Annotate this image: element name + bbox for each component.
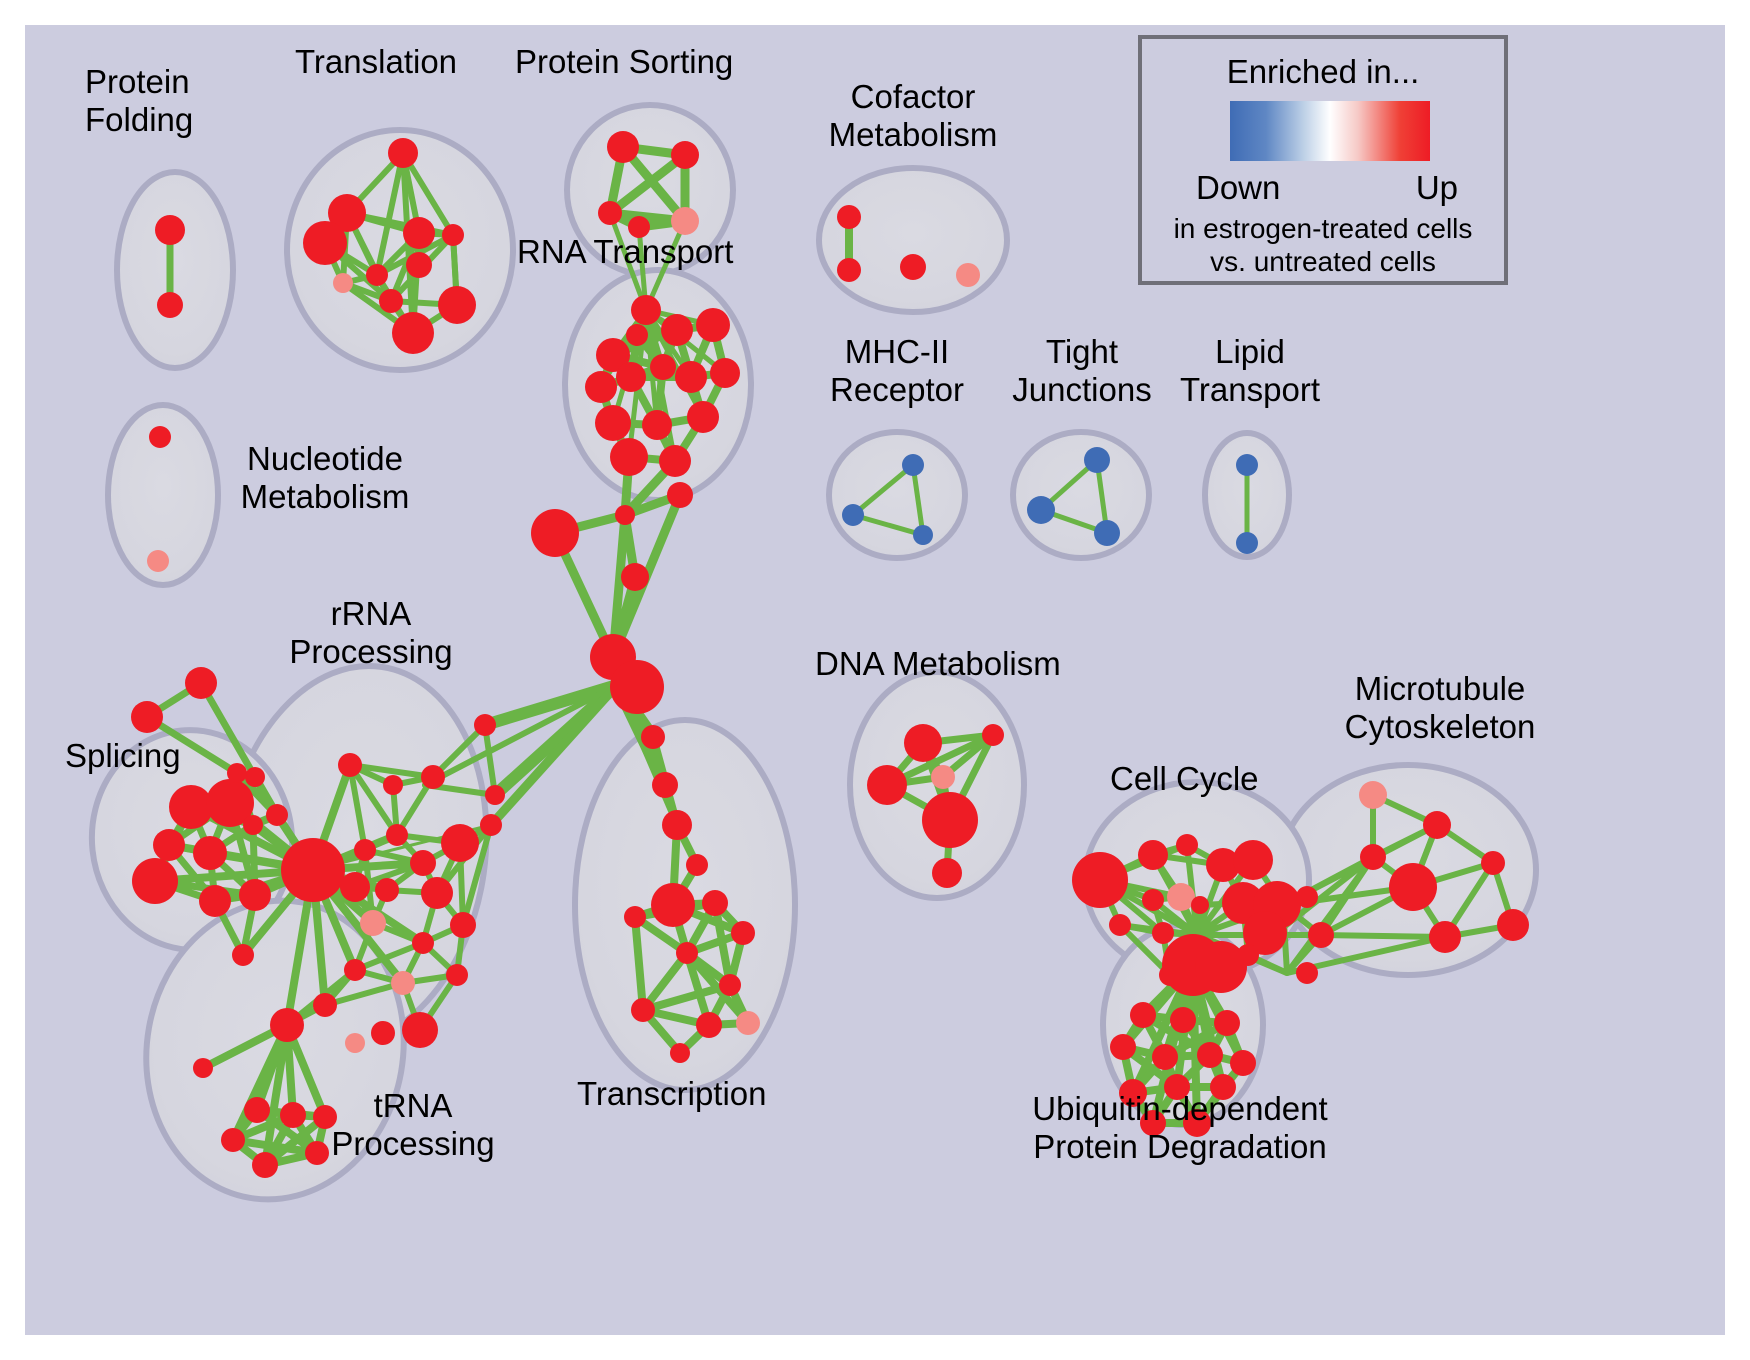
- node: [1359, 781, 1387, 809]
- node: [410, 850, 436, 876]
- node: [610, 660, 664, 714]
- cluster-label-translation: Translation: [295, 43, 457, 81]
- node: [313, 993, 337, 1017]
- cluster-label-mhc-ii-receptor: MHC-IIReceptor: [797, 333, 997, 409]
- node: [252, 1152, 278, 1178]
- node: [1389, 863, 1437, 911]
- node: [232, 944, 254, 966]
- node: [354, 839, 376, 861]
- hull-protein-folding: [117, 172, 233, 368]
- node: [837, 258, 861, 282]
- node: [155, 215, 185, 245]
- cluster-label-trna-processing: tRNAProcessing: [303, 1087, 523, 1163]
- legend-title: Enriched in...: [1142, 53, 1504, 91]
- node: [626, 324, 648, 346]
- node: [904, 724, 942, 762]
- cluster-label-protein-folding: ProteinFolding: [85, 63, 193, 139]
- node: [266, 804, 288, 826]
- node: [610, 438, 648, 476]
- node: [1027, 496, 1055, 524]
- node: [585, 371, 617, 403]
- node: [1423, 811, 1451, 839]
- legend-subtitle-line1: in estrogen-treated cells: [1142, 213, 1504, 245]
- hull-tight-junctions: [1013, 432, 1149, 558]
- node: [687, 401, 719, 433]
- figure-root: ProteinFolding Translation Protein Sorti…: [0, 0, 1750, 1360]
- node: [379, 289, 403, 313]
- node: [338, 753, 362, 777]
- node: [450, 912, 476, 938]
- node: [686, 854, 708, 876]
- node: [1481, 851, 1505, 875]
- cluster-label-cell-cycle: Cell Cycle: [1110, 760, 1259, 798]
- node: [719, 974, 741, 996]
- node: [402, 1012, 438, 1048]
- cluster-label-cofactor-metabolism: CofactorMetabolism: [803, 78, 1023, 154]
- node: [902, 454, 924, 476]
- node: [652, 772, 678, 798]
- node: [333, 273, 353, 293]
- legend-color-gradient-bar: [1230, 101, 1430, 161]
- node: [1197, 1042, 1223, 1068]
- node: [982, 724, 1004, 746]
- node: [243, 815, 263, 835]
- node: [651, 883, 695, 927]
- legend-low-label: Down: [1196, 169, 1280, 207]
- node: [1152, 1044, 1178, 1070]
- node: [837, 205, 861, 229]
- node: [193, 1058, 213, 1078]
- node: [659, 445, 691, 477]
- node: [147, 550, 169, 572]
- node: [199, 885, 231, 917]
- node: [696, 308, 730, 342]
- legend-panel: Enriched in... Down Up in estrogen-treat…: [1138, 35, 1508, 285]
- cluster-label-splicing: Splicing: [65, 737, 181, 775]
- node: [661, 314, 693, 346]
- node: [193, 836, 227, 870]
- node: [388, 138, 418, 168]
- node: [227, 763, 247, 783]
- node: [474, 714, 496, 736]
- node: [1429, 921, 1461, 953]
- node: [676, 942, 698, 964]
- node: [1296, 886, 1318, 908]
- node: [595, 405, 631, 441]
- cluster-label-protein-sorting: Protein Sorting: [515, 43, 733, 81]
- node: [132, 858, 178, 904]
- cluster-label-nucleotide-metabolism: NucleotideMetabolism: [210, 440, 440, 516]
- node: [675, 361, 707, 393]
- node: [642, 410, 672, 440]
- node: [607, 131, 639, 163]
- node: [149, 426, 171, 448]
- node: [1084, 447, 1110, 473]
- node: [375, 878, 399, 902]
- cluster-label-tight-junctions: TightJunctions: [987, 333, 1177, 409]
- node: [1236, 532, 1258, 554]
- node: [671, 141, 699, 169]
- node: [641, 725, 665, 749]
- node: [531, 509, 579, 557]
- cluster-label-transcription: Transcription: [577, 1075, 767, 1113]
- node: [1296, 962, 1318, 984]
- node: [922, 792, 978, 848]
- node: [624, 906, 646, 928]
- node: [867, 765, 907, 805]
- node: [403, 217, 435, 249]
- node: [670, 1043, 690, 1063]
- node: [340, 872, 370, 902]
- node: [371, 1021, 395, 1045]
- node: [438, 286, 476, 324]
- cluster-label-rrna-processing: rRNAProcessing: [261, 595, 481, 671]
- node: [621, 563, 649, 591]
- node: [221, 1128, 245, 1152]
- node: [421, 877, 453, 909]
- node: [1142, 889, 1164, 911]
- node: [1110, 1034, 1136, 1060]
- node: [1195, 941, 1247, 993]
- node: [131, 701, 163, 733]
- node: [1109, 914, 1131, 936]
- node: [1497, 909, 1529, 941]
- cluster-label-ubiquitin-protein-degradation: Ubiquitin-dependentProtein Degradation: [980, 1090, 1380, 1166]
- node: [281, 838, 345, 902]
- node: [616, 362, 646, 392]
- hull-mhc: [829, 432, 965, 558]
- node: [406, 252, 432, 278]
- node: [710, 358, 740, 388]
- node: [1191, 896, 1209, 914]
- node: [1170, 1007, 1196, 1033]
- node: [598, 201, 622, 225]
- node: [270, 1008, 304, 1042]
- node: [1138, 840, 1168, 870]
- cluster-label-rna-transport: RNA Transport: [517, 233, 733, 271]
- node: [631, 295, 661, 325]
- node: [1152, 922, 1174, 944]
- node: [1094, 520, 1120, 546]
- node: [900, 254, 926, 280]
- node: [392, 312, 434, 354]
- node: [239, 879, 271, 911]
- node: [442, 224, 464, 246]
- node: [932, 858, 962, 888]
- node: [391, 971, 415, 995]
- node: [366, 264, 388, 286]
- node: [1130, 1002, 1156, 1028]
- node: [1360, 844, 1386, 870]
- node: [615, 505, 635, 525]
- node: [383, 775, 403, 795]
- node: [913, 525, 933, 545]
- node: [736, 1011, 760, 1035]
- node: [696, 1012, 722, 1038]
- node: [245, 767, 265, 787]
- node: [360, 910, 386, 936]
- node: [303, 221, 347, 265]
- node: [344, 959, 366, 981]
- node: [1176, 834, 1198, 856]
- node: [1214, 1010, 1240, 1036]
- node: [345, 1033, 365, 1053]
- node: [412, 932, 434, 954]
- node: [446, 964, 468, 986]
- node: [441, 824, 479, 862]
- cluster-label-microtubule-cytoskeleton: MicrotubuleCytoskeleton: [1295, 670, 1585, 746]
- node: [1236, 454, 1258, 476]
- node: [386, 824, 408, 846]
- node: [480, 814, 502, 836]
- node: [421, 765, 445, 789]
- node: [1167, 883, 1195, 911]
- legend-subtitle-line2: vs. untreated cells: [1142, 246, 1504, 278]
- cluster-label-lipid-transport: LipidTransport: [1155, 333, 1345, 409]
- node: [244, 1097, 270, 1123]
- node: [842, 504, 864, 526]
- node: [1308, 922, 1334, 948]
- legend-high-label: Up: [1416, 169, 1458, 207]
- node: [1230, 1050, 1256, 1076]
- network-canvas: ProteinFolding Translation Protein Sorti…: [25, 25, 1725, 1335]
- node: [702, 890, 728, 916]
- node: [931, 765, 955, 789]
- node: [153, 829, 185, 861]
- node: [667, 482, 693, 508]
- node: [671, 207, 699, 235]
- node: [157, 292, 183, 318]
- node: [650, 354, 676, 380]
- node: [185, 667, 217, 699]
- node: [1072, 852, 1128, 908]
- node: [1233, 840, 1273, 880]
- node: [956, 263, 980, 287]
- cluster-label-dna-metabolism: DNA Metabolism: [815, 645, 1061, 683]
- node: [662, 810, 692, 840]
- node: [485, 785, 505, 805]
- node: [731, 921, 755, 945]
- node: [631, 998, 655, 1022]
